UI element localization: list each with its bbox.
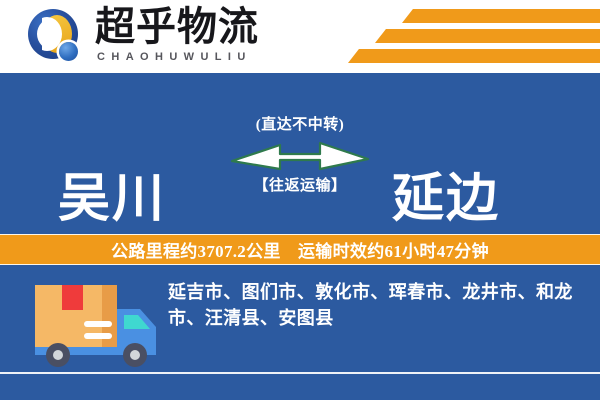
header-stripe-decoration xyxy=(330,0,600,73)
logo-accent-dot-shape xyxy=(59,42,78,61)
direct-shipping-note: (直达不中转) xyxy=(228,115,372,135)
coverage-section: 延吉市、图们市、敦化市、珲春市、龙井市、和龙市、汪清县、安图县 xyxy=(0,265,600,400)
route-info-bar: 公路里程约3707.2公里 运输时效约61小时47分钟 xyxy=(0,234,600,265)
bidirectional-arrow-icon xyxy=(228,138,372,172)
brand-name-pinyin: CHAOHUWULIU xyxy=(95,50,295,64)
delivery-truck-icon xyxy=(32,277,162,373)
covered-cities-list: 延吉市、图们市、敦化市、珲春市、龙井市、和龙市、汪清县、安图县 xyxy=(168,279,580,331)
route-arrow-group: (直达不中转) 【往返运输】 xyxy=(228,115,372,196)
brand-name-chinese: 超乎物流 xyxy=(95,4,295,50)
brand-block: 超乎物流 CHAOHUWULIU xyxy=(95,4,295,64)
round-trip-note: 【往返运输】 xyxy=(228,176,372,196)
banner-header: 超乎物流 CHAOHUWULIU xyxy=(0,0,600,73)
logistics-route-banner: 超乎物流 CHAOHUWULIU 吴川 (直达不中转) 【往返运输】 延边 公路… xyxy=(0,0,600,400)
stripe-2 xyxy=(375,29,600,43)
stripe-3 xyxy=(348,49,600,63)
origin-city: 吴川 xyxy=(58,174,166,226)
distance-and-duration-text: 公路里程约3707.2公里 运输时效约61小时47分钟 xyxy=(111,237,489,262)
stripe-1 xyxy=(402,9,600,23)
bottom-divider xyxy=(0,372,600,374)
route-section: 吴川 (直达不中转) 【往返运输】 延边 xyxy=(0,73,600,234)
chaohu-q-logo-icon xyxy=(28,9,86,67)
destination-city: 延边 xyxy=(392,174,500,226)
